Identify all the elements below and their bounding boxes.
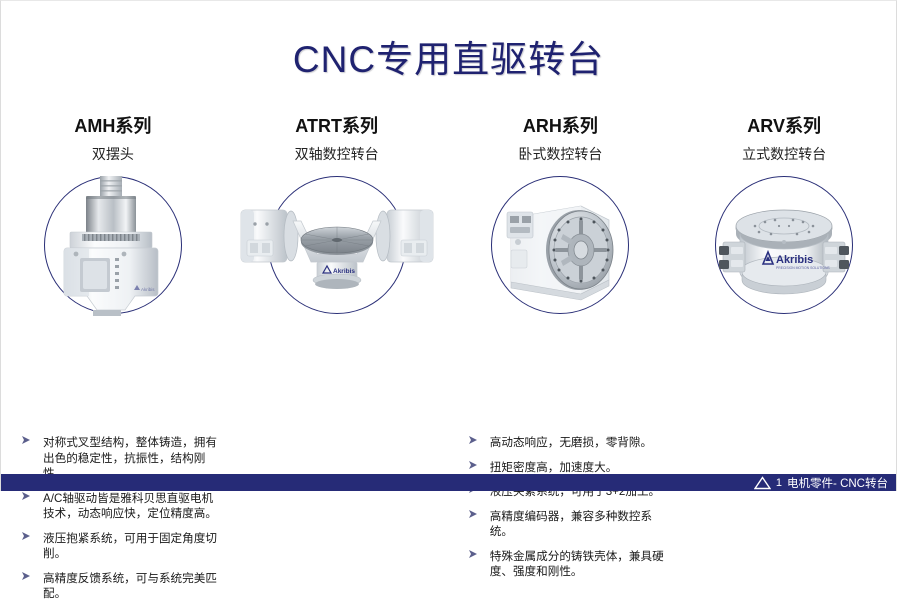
- list-item: 特殊金属成分的铸铁壳体，兼具硬度、强度和刚性。: [468, 549, 668, 580]
- list-item-text: 高动态响应，无磨损，零背隙。: [490, 435, 668, 451]
- page-title: CNC专用直驱转台: [1, 29, 896, 83]
- footer-content: 1 电机零件- CNC转台: [754, 474, 888, 491]
- svg-text:Akribis: Akribis: [333, 268, 355, 275]
- series-name: AMH系列: [1, 113, 225, 139]
- amh-double-swivel-head-photo: Akribis: [38, 176, 188, 316]
- series-name: ARH系列: [449, 113, 673, 139]
- column-header: AMH系列 双摆头: [1, 113, 225, 166]
- list-item: 液压抱紧系统，可用于固定角度切削。: [21, 531, 221, 562]
- akribis-triangle-logo: [754, 476, 771, 490]
- list-item: 高精度反馈系统，可与系统完美匹配。: [21, 571, 221, 602]
- svg-text:Akribis: Akribis: [776, 254, 813, 266]
- series-name: ATRT系列: [225, 113, 449, 139]
- arrow-bullet-icon: [21, 435, 35, 449]
- list-item: 高动态响应，无磨损，零背隙。: [468, 435, 668, 451]
- arrow-bullet-icon: [468, 549, 482, 563]
- svg-text:PRECISION MOTION SOLUTIONS: PRECISION MOTION SOLUTIONS: [776, 266, 830, 270]
- series-subtitle: 立式数控转台: [672, 142, 896, 166]
- list-item-text: 高精度编码器，兼容多种数控系统。: [490, 509, 668, 540]
- svg-text:Akribis: Akribis: [141, 287, 155, 292]
- column-header: ARV系列 立式数控转台: [672, 113, 896, 166]
- feature-list: 对称式叉型结构，整体铸造，拥有出色的稳定性，抗振性，结构刚性。 A/C轴驱动皆是…: [21, 435, 221, 602]
- list-item-text: 高精度反馈系统，可与系统完美匹配。: [43, 571, 221, 602]
- list-item-text: 扭矩密度高，加速度大。: [490, 460, 668, 476]
- product-column-atrt: ATRT系列 双轴数控转台: [225, 113, 449, 322]
- arrow-bullet-icon: [21, 491, 35, 505]
- product-column-amh: AMH系列 双摆头: [1, 113, 225, 322]
- series-subtitle: 双轴数控转台: [225, 142, 449, 166]
- list-item-text: A/C轴驱动皆是雅科贝思直驱电机技术，动态响应快，定位精度高。: [43, 491, 221, 522]
- list-item: 扭矩密度高，加速度大。: [468, 460, 668, 476]
- list-item-text: 特殊金属成分的铸铁壳体，兼具硬度、强度和刚性。: [490, 549, 668, 580]
- list-item-text: 液压抱紧系统，可用于固定角度切削。: [43, 531, 221, 562]
- arrow-bullet-icon: [21, 531, 35, 545]
- page-number: 1: [776, 477, 782, 489]
- arrow-bullet-icon: [468, 435, 482, 449]
- series-subtitle: 双摆头: [1, 142, 225, 166]
- product-image-arh: [449, 172, 673, 322]
- list-item: 高精度编码器，兼容多种数控系统。: [468, 509, 668, 540]
- product-column-arh: ARH系列 卧式数控转台: [449, 113, 673, 322]
- series-subtitle: 卧式数控转台: [449, 142, 673, 166]
- arv-vertical-rotary-table-photo: Akribis PRECISION MOTION SOLUTIONS: [709, 176, 859, 316]
- footer-label: 电机零件- CNC转台: [787, 475, 888, 491]
- arrow-bullet-icon: [468, 509, 482, 523]
- column-header: ARH系列 卧式数控转台: [449, 113, 673, 166]
- arrow-bullet-icon: [468, 460, 482, 474]
- arh-horizontal-rotary-table-photo: [485, 176, 635, 316]
- series-name: ARV系列: [672, 113, 896, 139]
- product-image-atrt: Akribis: [225, 172, 449, 322]
- atrt-dual-axis-trunnion-table-photo: Akribis: [237, 176, 437, 316]
- list-item: A/C轴驱动皆是雅科贝思直驱电机技术，动态响应快，定位精度高。: [21, 491, 221, 522]
- product-image-amh: Akribis: [1, 172, 225, 322]
- arrow-bullet-icon: [21, 571, 35, 585]
- product-column-arv: ARV系列 立式数控转台: [672, 113, 896, 322]
- feature-list: 高动态响应，无磨损，零背隙。 扭矩密度高，加速度大。 液压夹紧系统，可用于3+2…: [468, 435, 668, 580]
- footer-bar: 1 电机零件- CNC转台: [1, 474, 896, 491]
- column-header: ATRT系列 双轴数控转台: [225, 113, 449, 166]
- slide-canvas: CNC专用直驱转台 AMH系列 双摆头: [0, 0, 897, 491]
- product-columns: AMH系列 双摆头: [1, 113, 896, 322]
- product-image-arv: Akribis PRECISION MOTION SOLUTIONS: [672, 172, 896, 322]
